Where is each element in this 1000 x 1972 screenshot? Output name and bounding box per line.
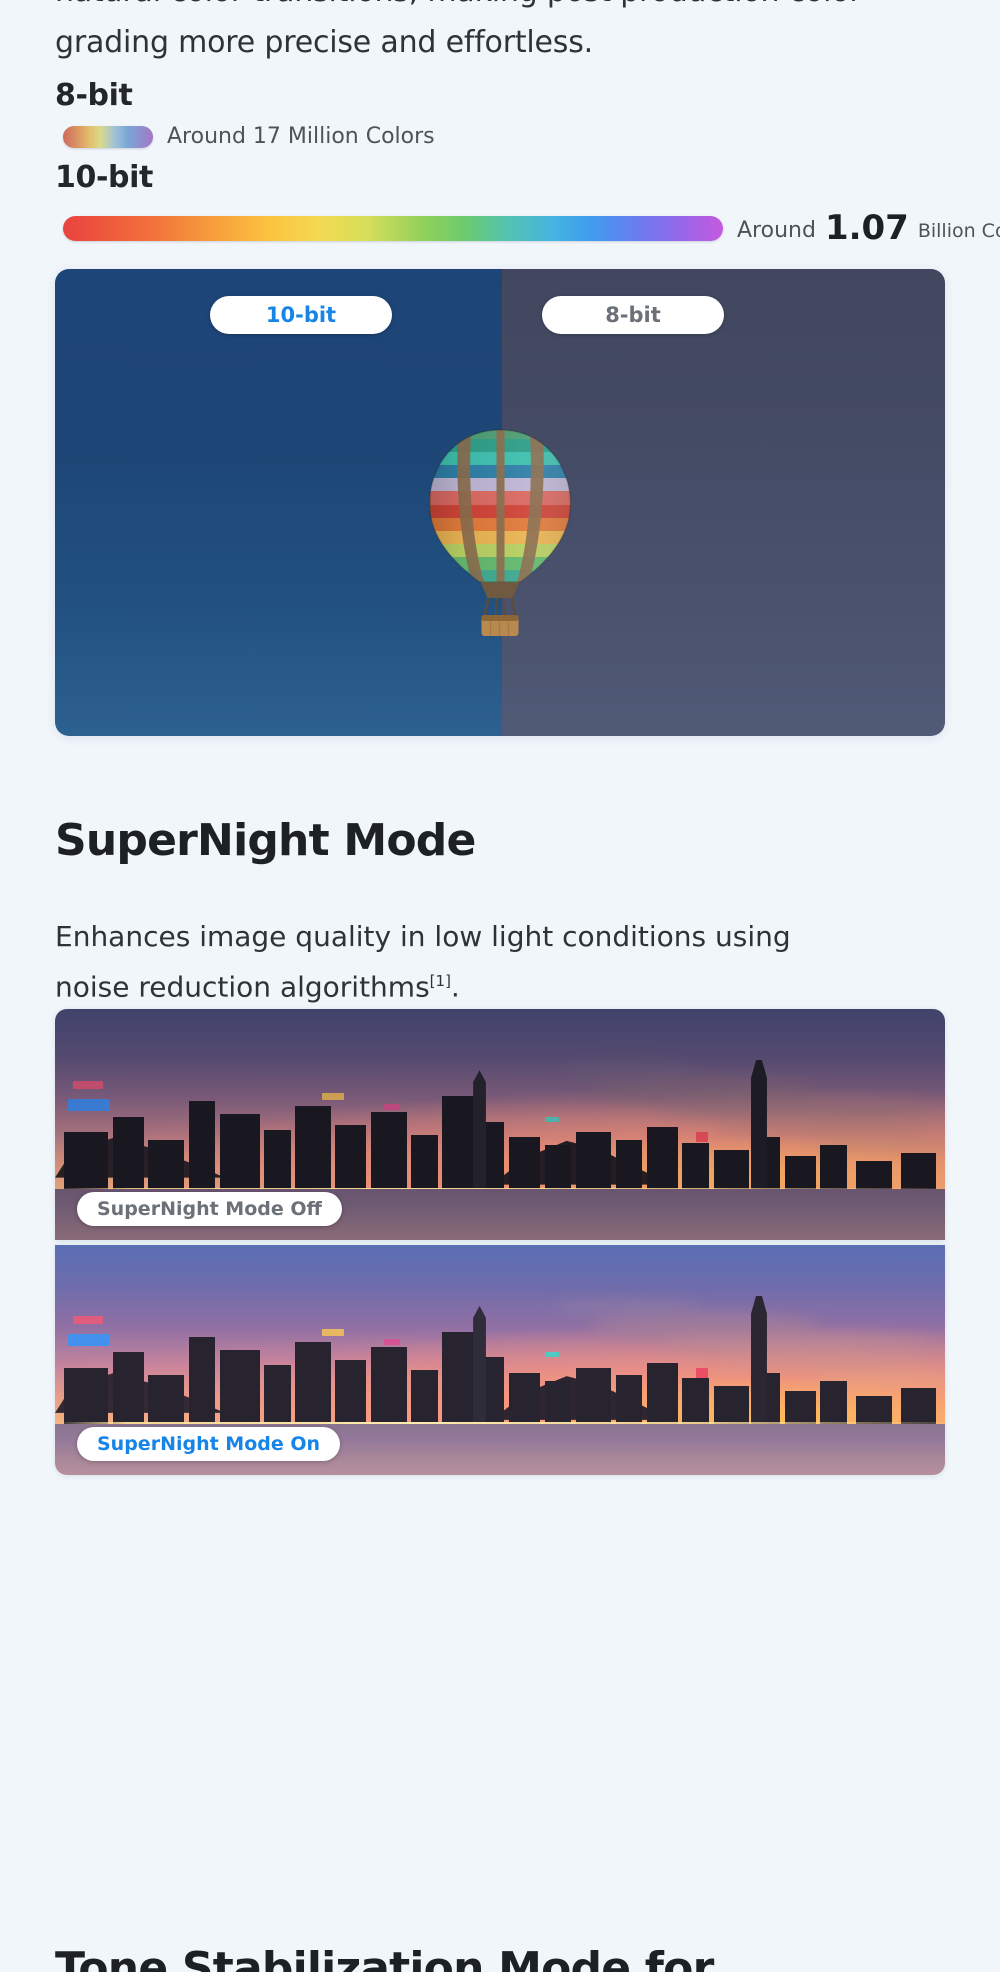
eight-bit-block: 8-bit Around 17 Million Colors xyxy=(55,78,435,149)
footnote-marker[interactable]: [1] xyxy=(430,972,451,990)
feature-page: natural color transitions, making post p… xyxy=(0,0,1000,1972)
supernight-heading: SuperNight Mode xyxy=(55,812,475,870)
supernight-description-period: . xyxy=(451,970,460,1003)
ten-bit-title: 10-bit xyxy=(55,160,1000,196)
ten-bit-caption-number: 1.07 xyxy=(823,208,911,248)
eight-bit-caption: Around 17 Million Colors xyxy=(167,124,435,149)
city-skyline-on xyxy=(55,1296,945,1425)
supernight-off-photo[interactable]: SuperNight Mode Off xyxy=(55,1009,945,1240)
hot-air-balloon-icon xyxy=(393,424,608,639)
ten-bit-caption: Around 1.07 Billion Colors xyxy=(737,208,1000,248)
supernight-description-text: Enhances image quality in low light cond… xyxy=(55,920,791,1003)
8-bit-color-swatch-icon xyxy=(63,126,153,148)
supernight-on-badge: SuperNight Mode On xyxy=(77,1427,340,1461)
intro-paragraph: natural color transitions, making post p… xyxy=(55,0,945,68)
comparison-pill-10bit[interactable]: 10-bit xyxy=(210,296,392,334)
supernight-on-photo[interactable]: SuperNight Mode On xyxy=(55,1245,945,1475)
ten-bit-block: 10-bit Around 1.07 Billion Colors xyxy=(55,160,1000,248)
10-bit-color-swatch-icon xyxy=(63,216,723,241)
bit-depth-comparison-card[interactable]: 10-bit 8-bit xyxy=(55,269,945,736)
ten-bit-row: Around 1.07 Billion Colors xyxy=(63,208,1000,248)
hot-air-balloon-image xyxy=(393,424,608,639)
city-skyline-off xyxy=(55,1060,945,1189)
ten-bit-caption-prefix: Around xyxy=(737,218,816,243)
ten-bit-caption-suffix: Billion Colors xyxy=(918,220,1000,242)
supernight-off-badge: SuperNight Mode Off xyxy=(77,1192,342,1226)
comparison-pill-8bit[interactable]: 8-bit xyxy=(542,296,724,334)
eight-bit-title: 8-bit xyxy=(55,78,435,114)
eight-bit-row: Around 17 Million Colors xyxy=(63,124,435,149)
next-section-heading: Tone Stabilization Mode for xyxy=(55,1940,713,1972)
supernight-description: Enhances image quality in low light cond… xyxy=(55,915,845,1009)
